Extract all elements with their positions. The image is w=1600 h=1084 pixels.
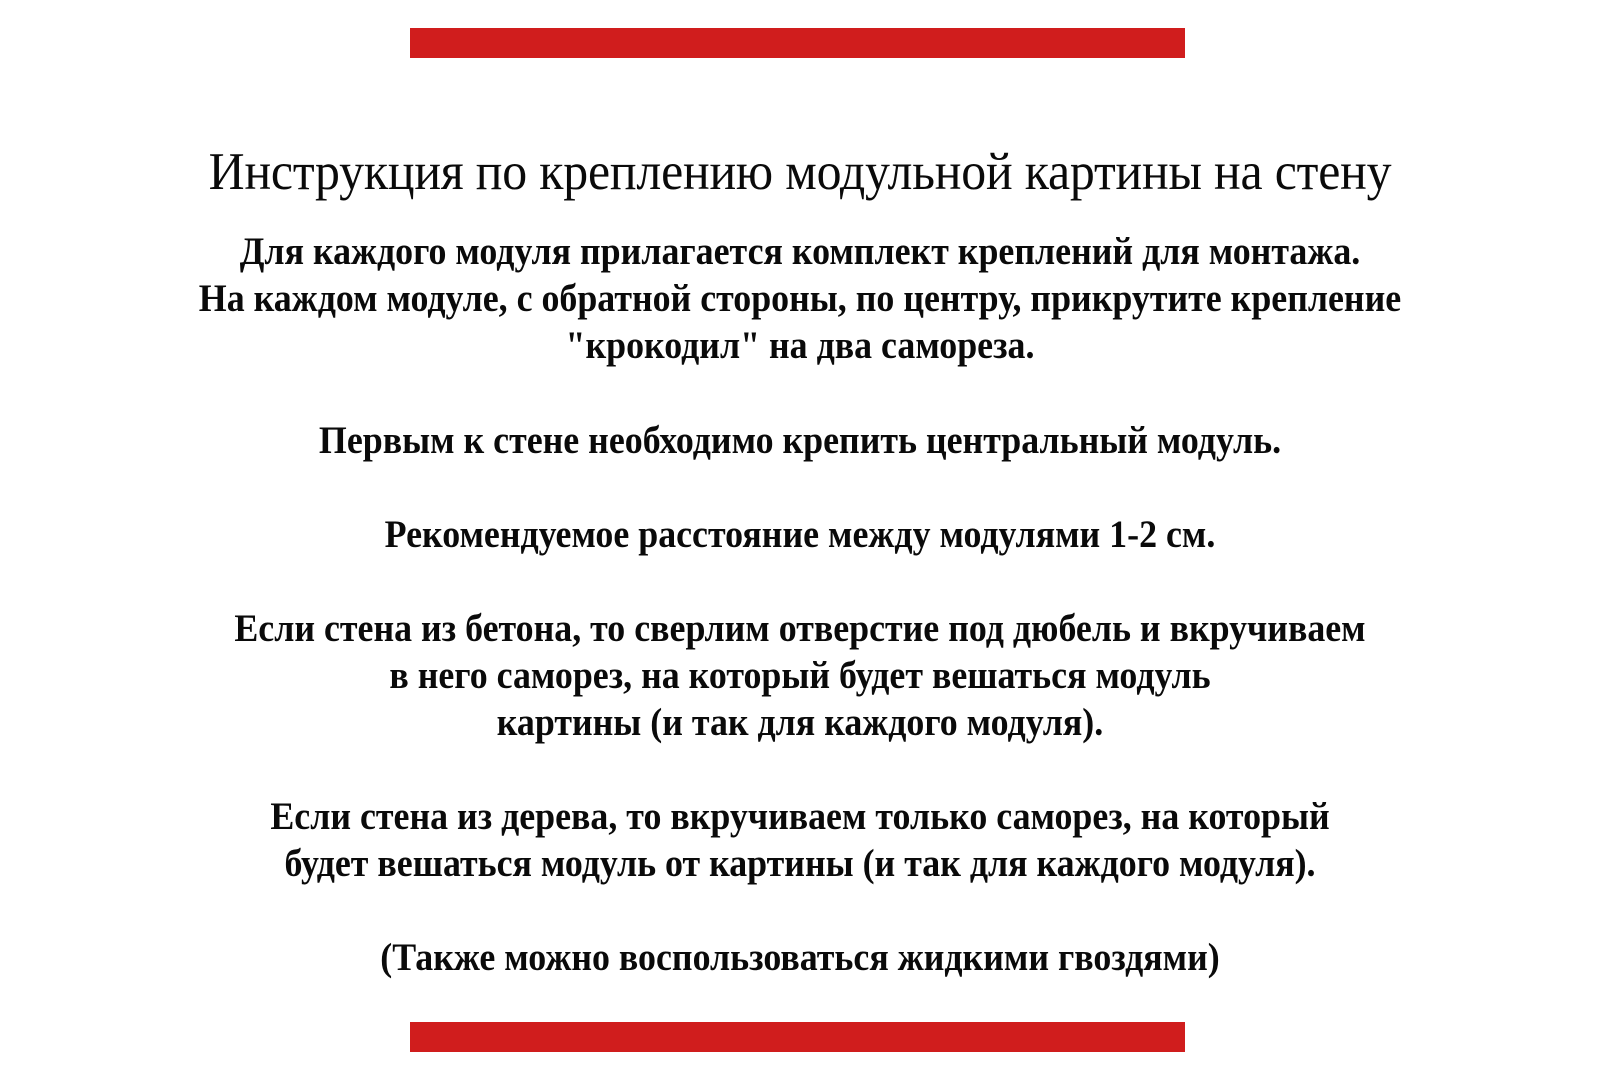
paragraph-liquid-nails-note: (Также можно воспользоваться жидкими гво… (64, 934, 1536, 981)
paragraph-line: Рекомендуемое расстояние между модулями … (64, 511, 1536, 558)
paragraph-gap (0, 887, 1600, 934)
paragraph-concrete-wall: Если стена из бетона, то сверлим отверст… (64, 605, 1536, 746)
paragraph-wooden-wall: Если стена из дерева, то вкручиваем толь… (64, 793, 1536, 887)
paragraph-line: Первым к стене необходимо крепить центра… (64, 417, 1536, 464)
instruction-slide: Инструкция по креплению модульной картин… (0, 0, 1600, 1084)
paragraph-line: На каждом модуле, с обратной стороны, по… (64, 275, 1536, 322)
paragraph-line: Если стена из дерева, то вкручиваем толь… (64, 793, 1536, 840)
bottom-red-rule (410, 1022, 1185, 1052)
paragraph-mounting-kit: Для каждого модуля прилагается комплект … (64, 228, 1536, 369)
paragraph-line: Для каждого модуля прилагается комплект … (64, 228, 1536, 275)
paragraph-gap (0, 464, 1600, 511)
paragraph-line: будет вешаться модуль от картины (и так … (64, 840, 1536, 887)
paragraph-gap (0, 369, 1600, 417)
paragraph-recommended-spacing: Рекомендуемое расстояние между модулями … (64, 511, 1536, 558)
top-red-rule (410, 28, 1185, 58)
paragraph-central-module-first: Первым к стене необходимо крепить центра… (64, 417, 1536, 464)
paragraph-gap (0, 558, 1600, 605)
paragraph-gap (0, 746, 1600, 793)
paragraph-line: (Также можно воспользоваться жидкими гво… (64, 934, 1536, 981)
paragraph-line: "крокодил" на два самореза. (64, 322, 1536, 369)
paragraph-line: в него саморез, на который будет вешатьс… (64, 652, 1536, 699)
instruction-body: Для каждого модуля прилагается комплект … (0, 228, 1600, 981)
page-title: Инструкция по креплению модульной картин… (48, 144, 1552, 200)
paragraph-line: Если стена из бетона, то сверлим отверст… (64, 605, 1536, 652)
paragraph-line: картины (и так для каждого модуля). (64, 699, 1536, 746)
